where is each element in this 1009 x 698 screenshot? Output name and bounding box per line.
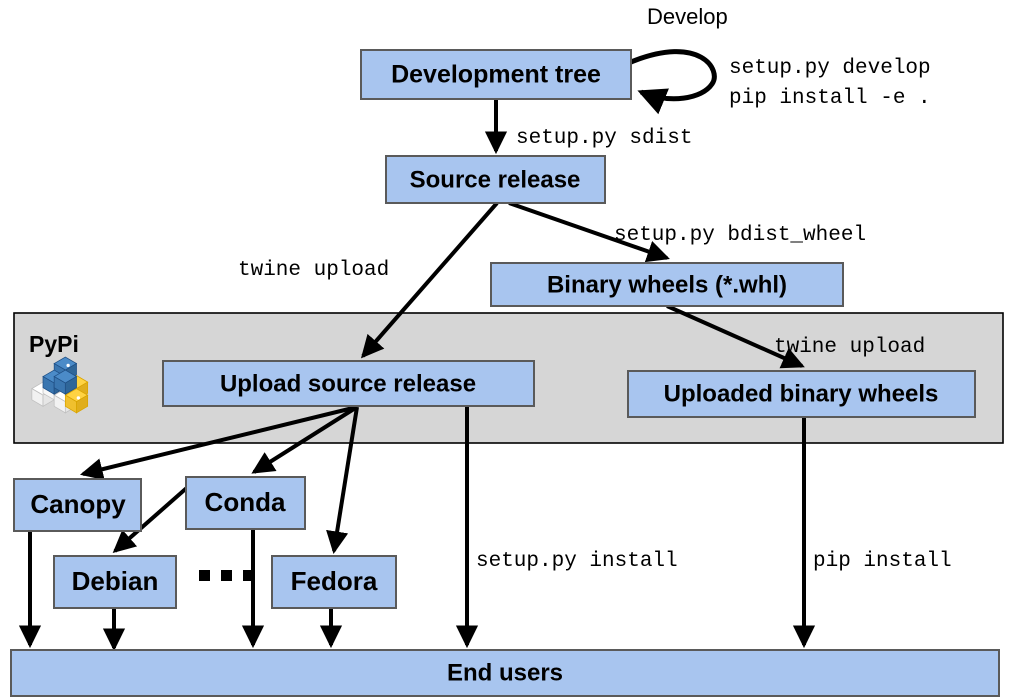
more-distros-ellipsis xyxy=(199,570,254,581)
node-label-development-tree: Development tree xyxy=(391,61,601,89)
node-label-uploaded-binary-wheels: Uploaded binary wheels xyxy=(664,380,939,407)
flow-diagram: PyPi xyxy=(0,0,1009,698)
edge-label-twine-upload-wheels: twine upload xyxy=(774,336,925,359)
edge-label-pip-install: pip install xyxy=(813,550,952,573)
node-upload-source-release[interactable]: Upload source release xyxy=(163,361,534,406)
node-uploaded-binary-wheels[interactable]: Uploaded binary wheels xyxy=(628,371,975,417)
node-label-binary-wheels: Binary wheels (*.whl) xyxy=(547,271,787,298)
edge-label-twine-upload-source: twine upload xyxy=(238,259,389,282)
node-source-release[interactable]: Source release xyxy=(386,156,605,203)
node-label-conda: Conda xyxy=(205,487,286,517)
node-label-canopy: Canopy xyxy=(30,489,126,519)
edge-label-develop: Develop xyxy=(647,4,728,29)
node-fedora[interactable]: Fedora xyxy=(272,556,396,608)
node-label-fedora: Fedora xyxy=(291,566,378,596)
edge-label-setup-py-bdist-wheel: setup.py bdist_wheel xyxy=(614,224,866,247)
node-label-upload-source-release: Upload source release xyxy=(220,370,476,397)
node-end-users[interactable]: End users xyxy=(11,650,999,696)
pypi-group-label: PyPi xyxy=(29,331,79,357)
node-label-source-release: Source release xyxy=(410,166,581,193)
edge-label-setup-py-develop: setup.py develop xyxy=(729,57,931,80)
edge-label-setup-py-sdist: setup.py sdist xyxy=(516,127,692,150)
edge-label-pip-install-e: pip install -e . xyxy=(729,87,931,110)
node-canopy[interactable]: Canopy xyxy=(14,479,141,531)
edge-develop-selfloop xyxy=(631,52,714,99)
edge-label-setup-py-install: setup.py install xyxy=(476,550,678,573)
node-development-tree[interactable]: Development tree xyxy=(361,50,631,99)
node-label-end-users: End users xyxy=(447,659,563,686)
node-debian[interactable]: Debian xyxy=(54,556,176,608)
node-label-debian: Debian xyxy=(72,566,159,596)
node-conda[interactable]: Conda xyxy=(186,477,305,529)
node-binary-wheels[interactable]: Binary wheels (*.whl) xyxy=(491,263,843,306)
diagram-canvas: PyPi xyxy=(0,0,1009,698)
